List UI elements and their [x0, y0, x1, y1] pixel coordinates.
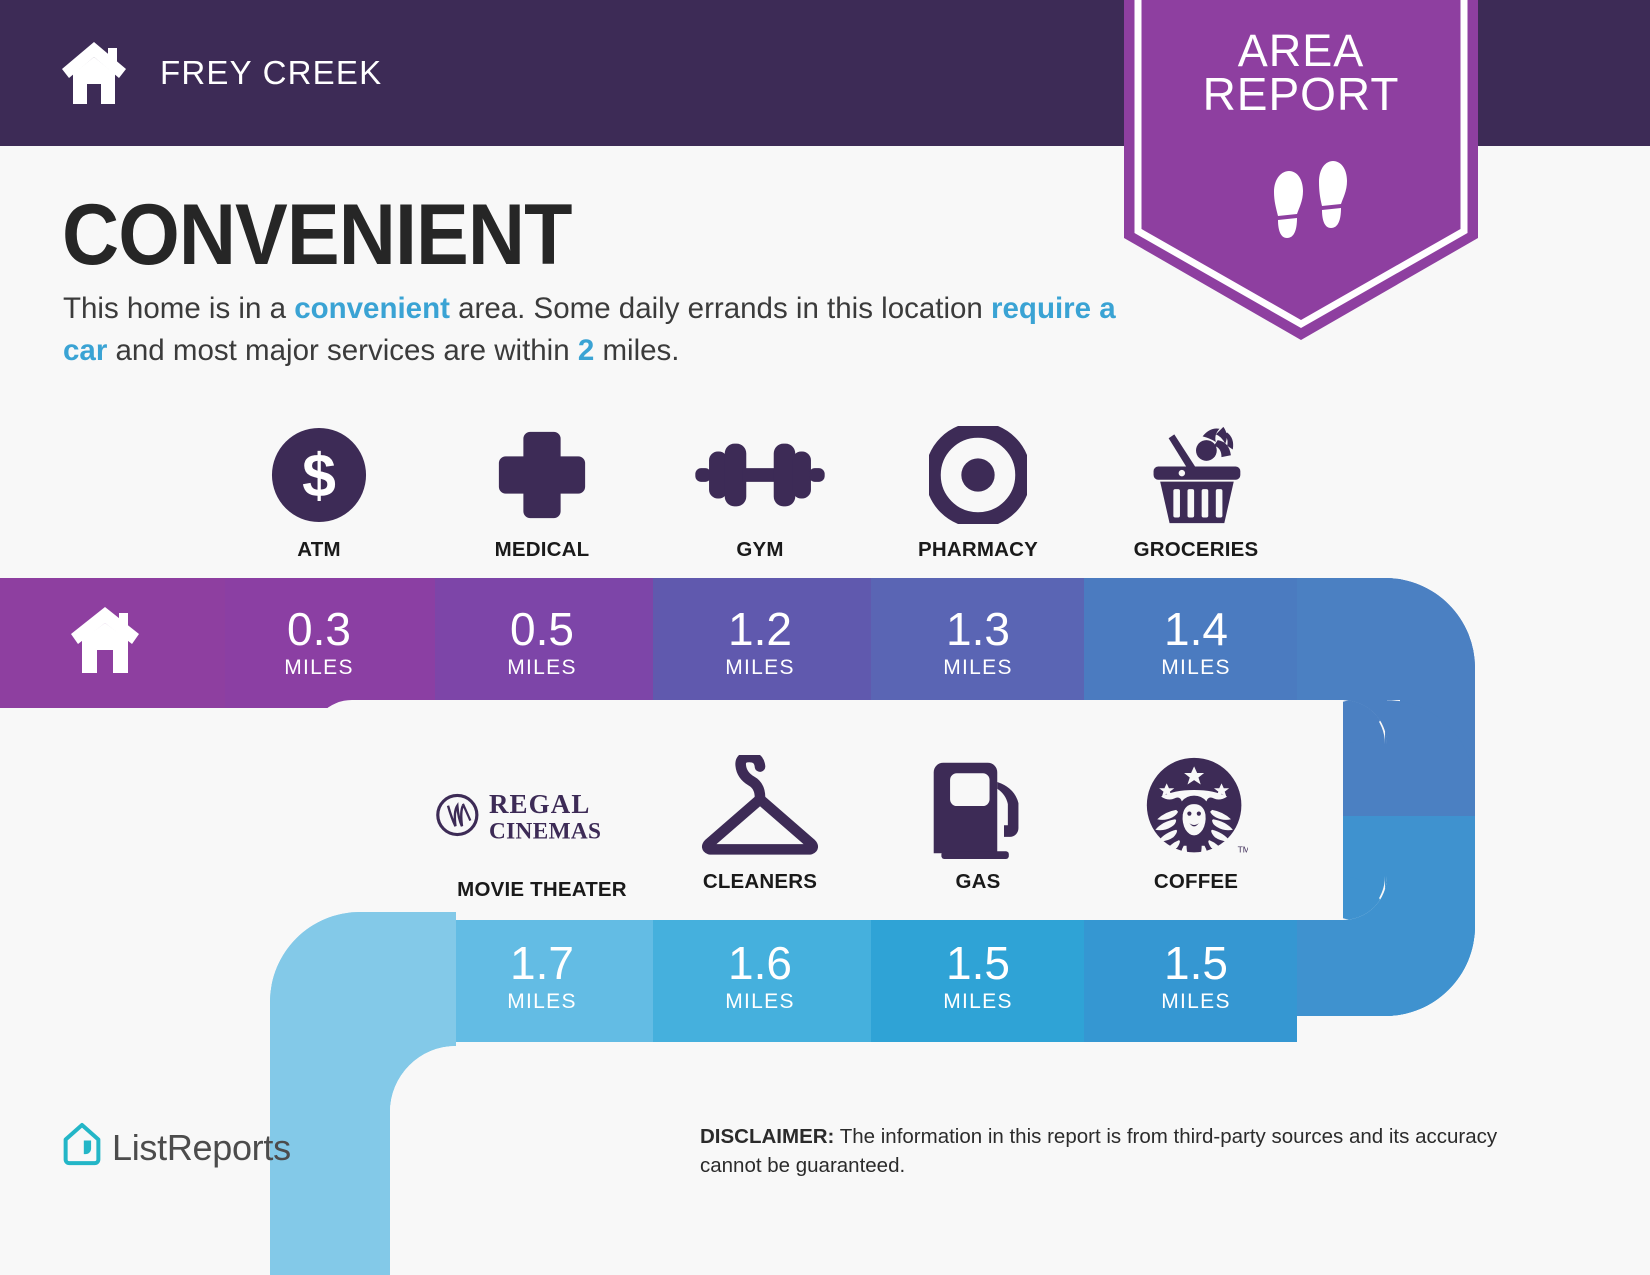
distance-atm: 0.3 MILES	[203, 606, 435, 680]
distance-unit: MILES	[1080, 990, 1312, 1014]
disclaimer-label: DISCLAIMER:	[700, 1125, 834, 1148]
regal-cinemas-logo-icon: REGAL CINEMAS	[426, 760, 658, 870]
distance-unit: MILES	[644, 990, 876, 1014]
service-groceries: GROCERIES	[1080, 420, 1312, 562]
service-gas: GAS	[862, 752, 1094, 894]
distance-medical: 0.5 MILES	[426, 606, 658, 680]
svg-text:CINEMAS: CINEMAS	[489, 818, 601, 844]
svg-text:REGAL: REGAL	[489, 789, 591, 819]
service-label: MEDICAL	[426, 538, 658, 562]
service-gym: GYM	[644, 420, 876, 562]
disclaimer: DISCLAIMER: The information in this repo…	[700, 1122, 1510, 1180]
distance-value: 1.5	[862, 940, 1094, 986]
target-bullseye-icon	[862, 420, 1094, 530]
distance-unit: MILES	[426, 656, 658, 680]
gas-pump-icon	[862, 752, 1094, 862]
service-label: MOVIE THEATER	[426, 878, 658, 902]
service-label: COFFEE	[1080, 870, 1312, 894]
grocery-basket-icon	[1080, 420, 1312, 530]
distance-value: 0.3	[203, 606, 435, 652]
distance-value: 1.7	[426, 940, 658, 986]
distance-value: 1.5	[1080, 940, 1312, 986]
home-icon	[68, 603, 142, 677]
dumbbell-icon	[644, 420, 876, 530]
service-label: GAS	[862, 870, 1094, 894]
distance-value: 1.2	[644, 606, 876, 652]
listreports-house-icon	[62, 1122, 102, 1173]
service-movie-theater: REGAL CINEMAS MOVIE THEATER	[426, 760, 658, 902]
distance-coffee: 1.5 MILES	[1080, 940, 1312, 1014]
service-label: PHARMACY	[862, 538, 1094, 562]
service-label: ATM	[203, 538, 435, 562]
svg-text:$: $	[302, 442, 336, 510]
distance-value: 1.6	[644, 940, 876, 986]
distance-value: 1.3	[862, 606, 1094, 652]
service-atm: $ ATM	[203, 420, 435, 562]
service-label: GYM	[644, 538, 876, 562]
service-cleaners: CLEANERS	[644, 752, 876, 894]
distance-gym: 1.2 MILES	[644, 606, 876, 680]
svg-text:TM: TM	[1238, 844, 1248, 854]
distance-unit: MILES	[426, 990, 658, 1014]
service-medical: MEDICAL	[426, 420, 658, 562]
distance-unit: MILES	[644, 656, 876, 680]
distance-movie-theater: 1.7 MILES	[426, 940, 658, 1014]
service-coffee: TM COFFEE	[1080, 752, 1312, 894]
distance-unit: MILES	[862, 990, 1094, 1014]
distance-unit: MILES	[1080, 656, 1312, 680]
distance-unit: MILES	[862, 656, 1094, 680]
service-label: CLEANERS	[644, 870, 876, 894]
service-pharmacy: PHARMACY	[862, 420, 1094, 562]
medical-cross-icon	[426, 420, 658, 530]
distance-value: 0.5	[426, 606, 658, 652]
distance-pharmacy: 1.3 MILES	[862, 606, 1094, 680]
listreports-wordmark: ListReports	[112, 1127, 291, 1169]
distance-gas: 1.5 MILES	[862, 940, 1094, 1014]
dollar-circle-icon: $	[203, 420, 435, 530]
area-report-page: FREY CREEK AREA REPORT CONVENIENT This h…	[0, 0, 1650, 1275]
starbucks-logo-icon: TM	[1080, 752, 1312, 862]
distance-cleaners: 1.6 MILES	[644, 940, 876, 1014]
listreports-logo: ListReports	[62, 1122, 291, 1173]
distance-value: 1.4	[1080, 606, 1312, 652]
distance-unit: MILES	[203, 656, 435, 680]
distance-groceries: 1.4 MILES	[1080, 606, 1312, 680]
service-label: GROCERIES	[1080, 538, 1312, 562]
clothes-hanger-icon	[644, 752, 876, 862]
